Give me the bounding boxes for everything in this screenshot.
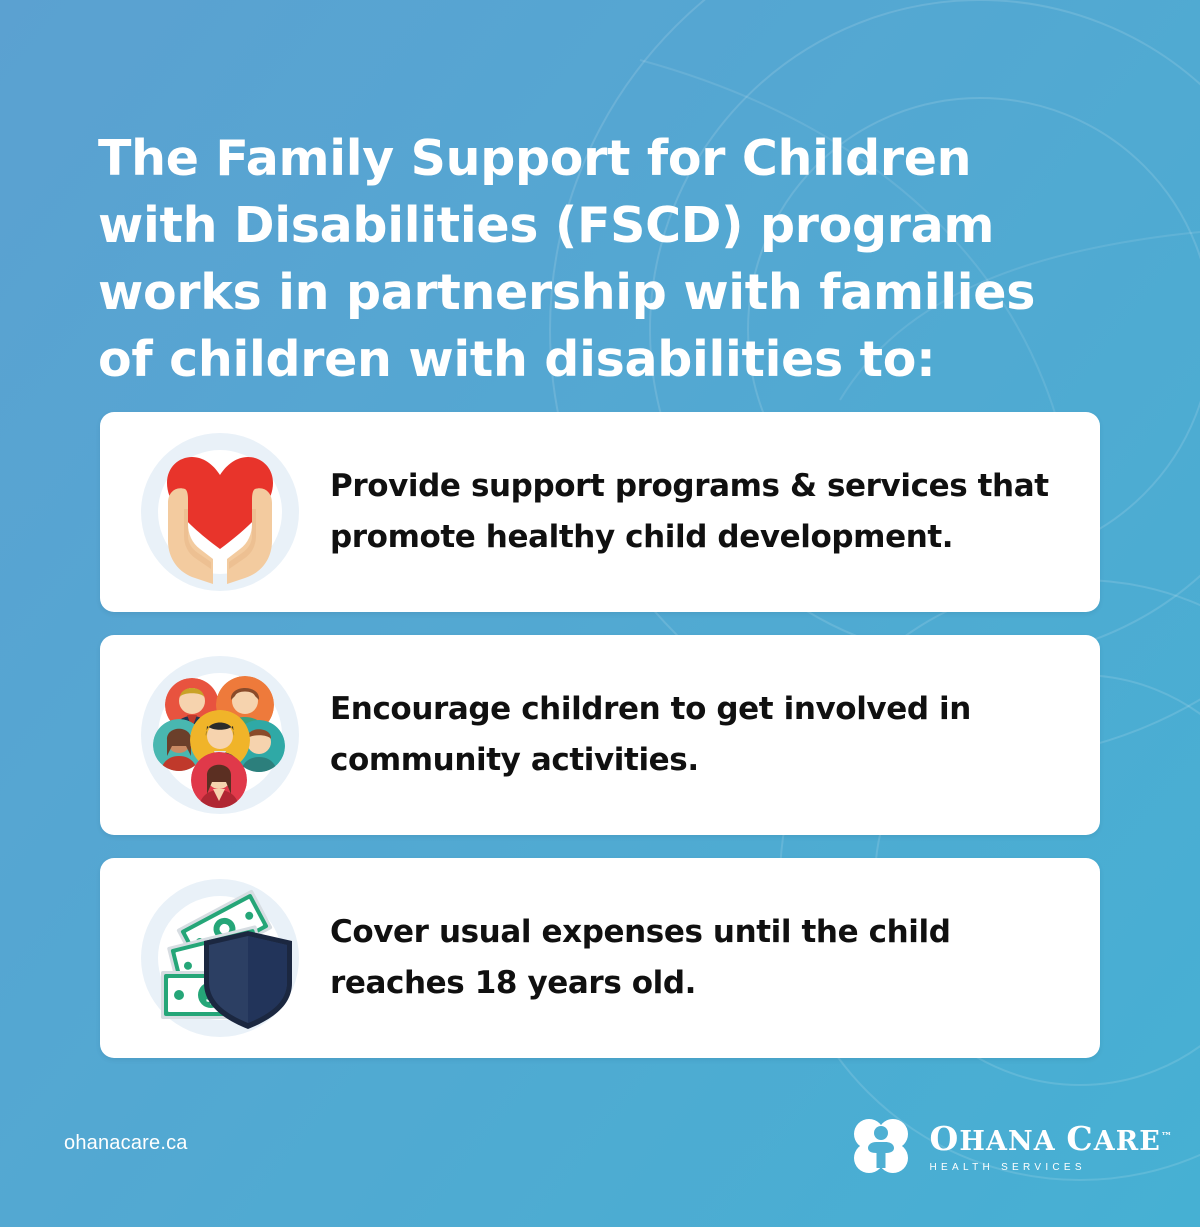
card-icon-wrapper [132,424,308,600]
money-with-shield-icon: $ [145,883,295,1033]
card-icon-wrapper: $ [132,870,308,1046]
heart-in-hands-icon [145,437,295,587]
brand-tagline: HEALTH SERVICES [929,1163,1172,1173]
benefit-card: Provide support programs & services that… [100,412,1100,612]
website-url[interactable]: ohanacare.ca [64,1132,188,1155]
benefit-card-text: Provide support programs & services that… [330,461,1100,563]
benefit-card: Encourage children to get involved in co… [100,635,1100,835]
brand-logo[interactable]: OHANA CARE™ HEALTH SERVICES [847,1112,1172,1180]
ohana-clover-person-logo-icon [847,1112,915,1180]
benefit-card-list: Provide support programs & services that… [100,412,1100,1058]
group-of-people-icon [145,660,295,810]
brand-name-are: ARE [1094,1126,1161,1157]
brand-name-c: C [1066,1119,1093,1158]
page-title: The Family Support for Children with Dis… [98,125,1058,393]
benefit-card-text: Encourage children to get involved in co… [330,684,1100,786]
card-icon-wrapper [132,647,308,823]
benefit-card-text: Cover usual expenses until the child rea… [330,907,1100,1009]
trademark-symbol: ™ [1161,1130,1172,1143]
brand-name-hana: HANA [959,1126,1056,1157]
brand-wordmark: OHANA CARE™ HEALTH SERVICES [929,1120,1172,1173]
benefit-card: $ Cover usual expenses until the child r… [100,858,1100,1058]
brand-name: OHANA CARE™ [929,1122,1172,1155]
brand-name-o: O [929,1119,959,1158]
infographic-poster: The Family Support for Children with Dis… [0,0,1200,1227]
